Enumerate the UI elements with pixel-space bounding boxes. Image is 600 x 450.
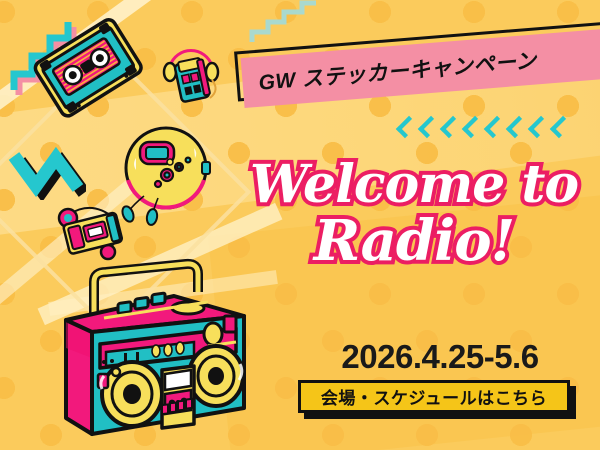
chevron-left-icon xyxy=(508,114,526,140)
cassette-tape-large-illustration xyxy=(26,8,146,128)
chevron-left-icon xyxy=(420,114,438,140)
zigzag-top-middle-icon xyxy=(248,0,318,46)
chevron-left-icon xyxy=(486,114,504,140)
zigzag-left-icon xyxy=(6,142,86,200)
chevron-left-icon xyxy=(464,114,482,140)
chevron-left-icon xyxy=(398,114,416,140)
schedule-cta-button[interactable]: 会場・スケジュールはこちら xyxy=(298,380,570,413)
event-date: 2026.4.25-5.6 xyxy=(300,338,580,376)
promo-banner: GW ステッカーキャンペーン Welcome to Radio! 2026.4.… xyxy=(0,0,600,450)
boombox-illustration xyxy=(58,258,254,444)
chevron-left-icon xyxy=(530,114,548,140)
cassette-player-small-illustration xyxy=(52,194,138,264)
walkman-with-headphones-illustration xyxy=(158,36,224,106)
chevron-row xyxy=(398,114,570,140)
chevron-left-icon xyxy=(442,114,460,140)
chevron-left-icon xyxy=(552,114,570,140)
schedule-cta-label: 会場・スケジュールはこちら xyxy=(321,384,547,409)
